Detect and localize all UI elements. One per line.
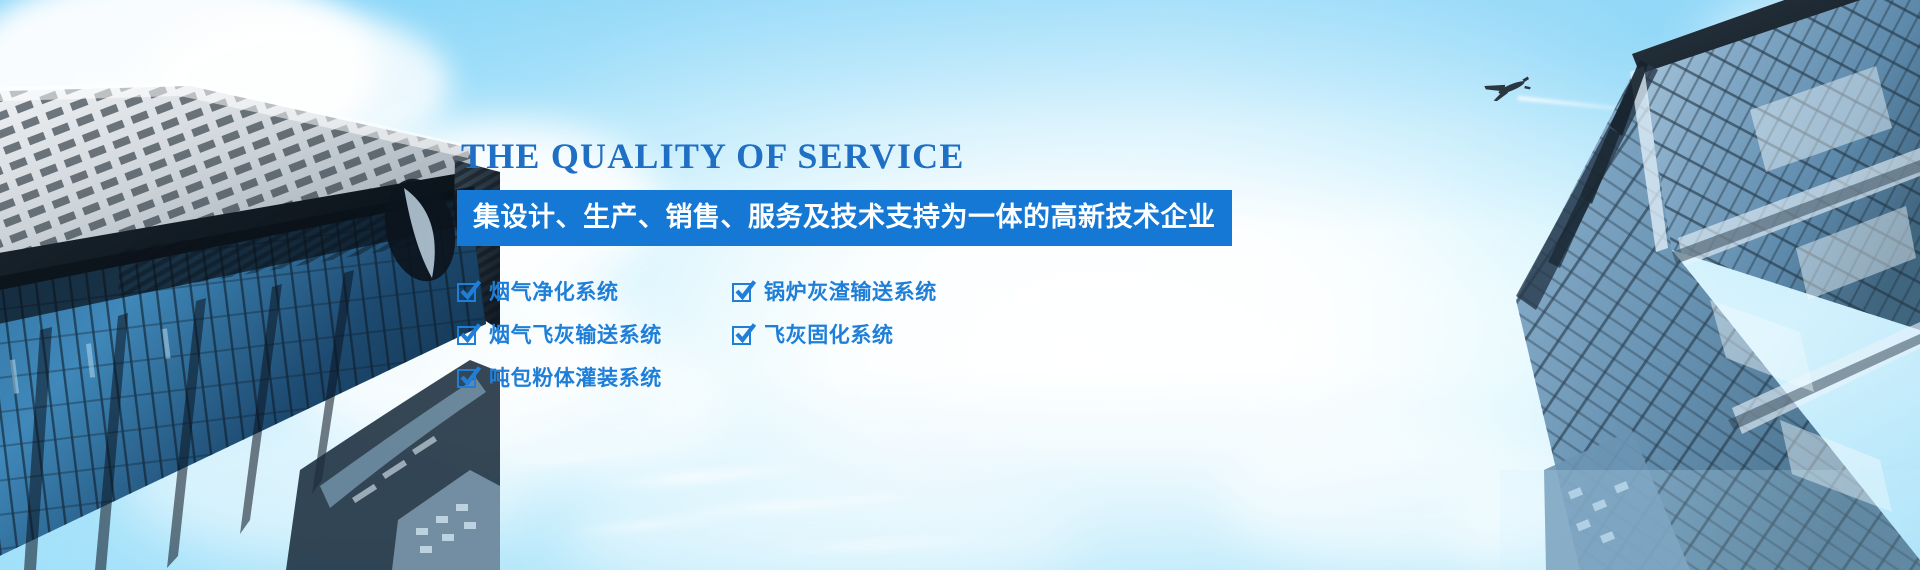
check-icon xyxy=(457,369,476,388)
hero-banner: THE QUALITY OF SERVICE 集设计、生产、销售、服务及技术支持… xyxy=(0,0,1920,570)
feature-label: 飞灰固化系统 xyxy=(764,325,894,346)
feature-item-1[interactable]: 锅炉灰渣输送系统 xyxy=(732,282,1177,303)
feature-label: 烟气净化系统 xyxy=(489,282,619,303)
feature-item-0[interactable]: 烟气净化系统 xyxy=(457,282,732,303)
feature-label: 烟气飞灰输送系统 xyxy=(489,325,662,346)
feature-label: 锅炉灰渣输送系统 xyxy=(764,282,937,303)
feature-item-3[interactable]: 飞灰固化系统 xyxy=(732,325,1177,346)
feature-label: 吨包粉体灌装系统 xyxy=(489,368,662,389)
feature-item-2[interactable]: 烟气飞灰输送系统 xyxy=(457,325,732,346)
check-icon xyxy=(457,326,476,345)
feature-item-4[interactable]: 吨包粉体灌装系统 xyxy=(457,368,732,389)
skyscraper-left xyxy=(0,0,500,570)
check-icon xyxy=(732,283,751,302)
check-icon xyxy=(732,326,751,345)
feature-list: 烟气净化系统 锅炉灰渣输送系统 烟气飞灰输送系统 飞灰固化系统 xyxy=(457,282,1177,389)
check-icon xyxy=(457,283,476,302)
tagline-bar: 集设计、生产、销售、服务及技术支持为一体的高新技术企业 xyxy=(457,190,1232,246)
page-title: THE QUALITY OF SERVICE xyxy=(461,138,1217,174)
skyscraper-right xyxy=(1280,0,1920,570)
banner-content: THE QUALITY OF SERVICE 集设计、生产、销售、服务及技术支持… xyxy=(457,138,1217,389)
